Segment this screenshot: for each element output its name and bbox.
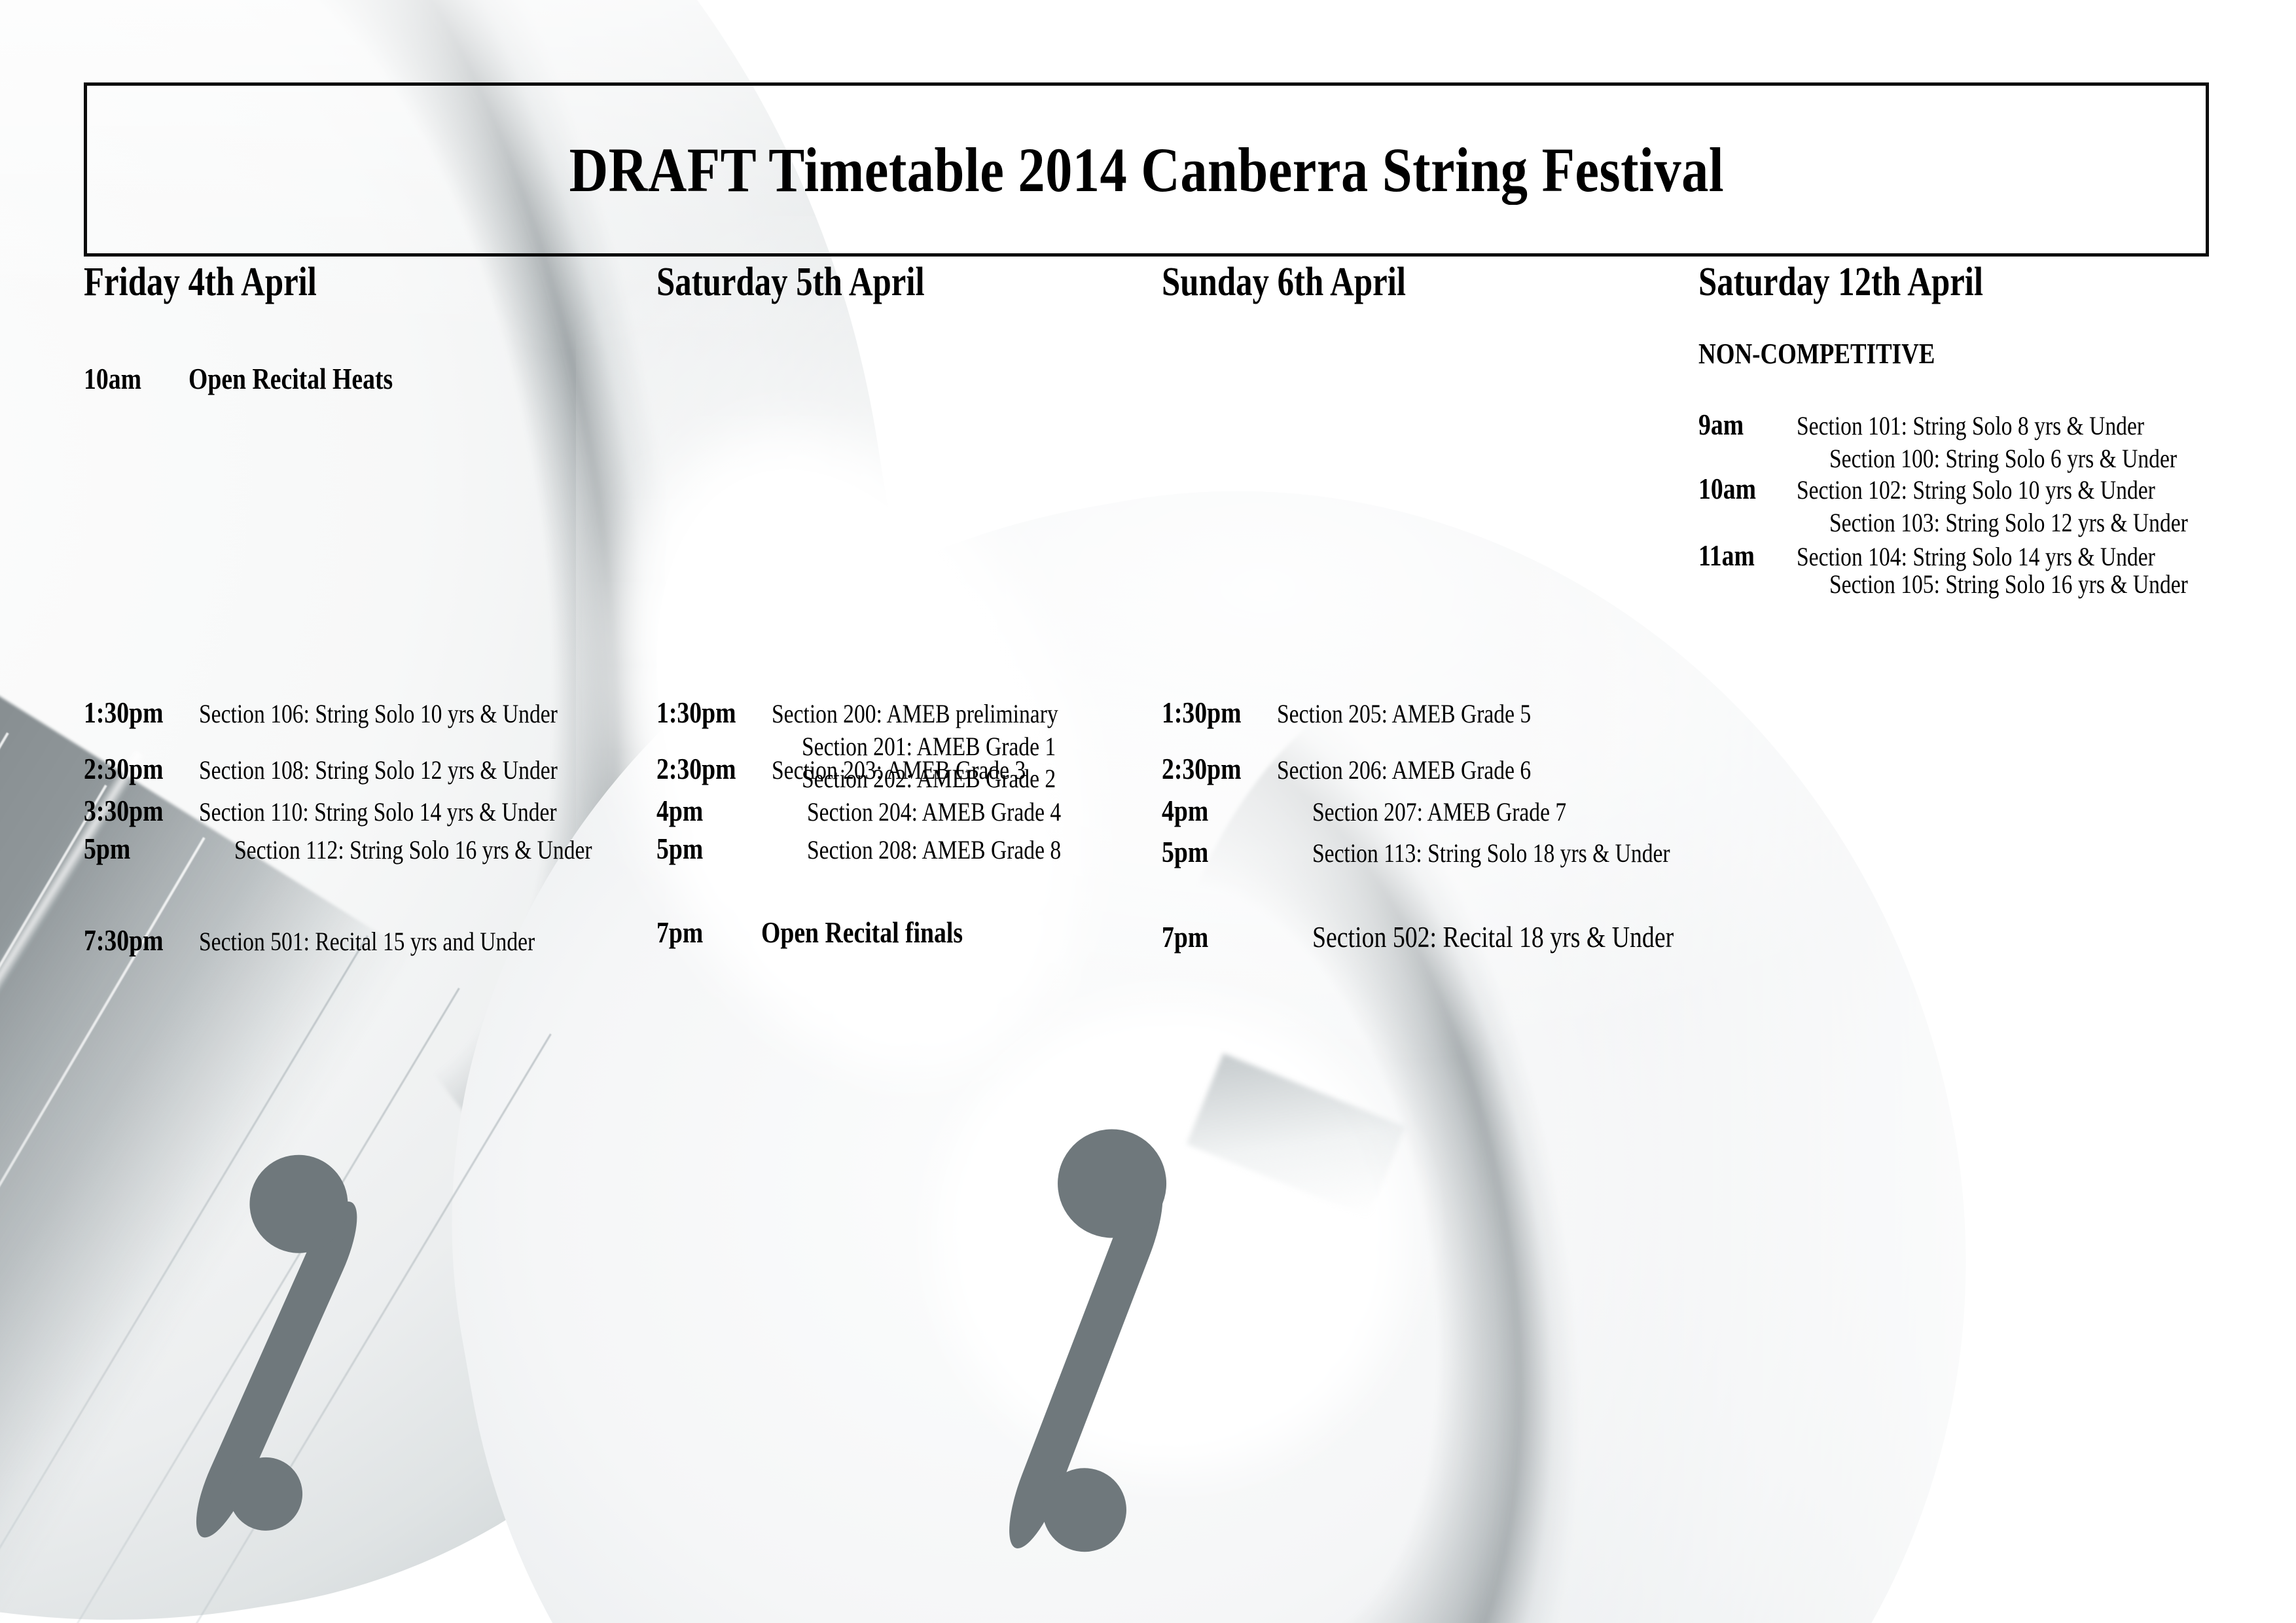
entry-description: Section 113: String Solo 18 yrs & Under (1312, 838, 1670, 868)
entry-time: 5pm (1162, 834, 1208, 869)
column-heading: Saturday 5th April (656, 262, 1086, 302)
timetable-entry: 7pmSection 502: Recital 18 yrs & Under (1162, 919, 1742, 954)
entry-time: 1:30pm (656, 695, 736, 730)
entry-time: 11am (1698, 538, 1755, 573)
timetable-entry: 4pmSection 204: AMEB Grade 4 (656, 793, 1109, 828)
timetable-entry: 2:30pmSection 108: String Solo 12 yrs & … (84, 751, 626, 786)
column-heading: Friday 4th April (84, 262, 535, 302)
entry-description: Section 203: AMEB Grade 3 (772, 755, 1026, 785)
entry-description: Section 208: AMEB Grade 8 (807, 834, 1061, 865)
timetable-entry: 7:30pmSection 501: Recital 15 yrs and Un… (84, 923, 599, 957)
title-box: DRAFT Timetable 2014 Canberra String Fes… (84, 82, 2209, 257)
entry-description: Section 101: String Solo 8 yrs & Under (1797, 410, 2144, 441)
column-heading: Sunday 6th April (1162, 262, 1591, 302)
day-column-sunday-6: Sunday 6th April 1:30pmSection 205: AMEB… (1162, 262, 1685, 302)
timetable-entry: 9amSection 101: String Solo 8 yrs & Unde… (1698, 407, 2243, 474)
day-column-saturday-12: Saturday 12th April NON-COMPETITIVE 9amS… (1698, 262, 2261, 302)
entry-description: Section 112: String Solo 16 yrs & Under (234, 834, 592, 865)
timetable-entry: 11amSection 104: String Solo 14 yrs & Un… (1698, 538, 2256, 599)
entry-time: 4pm (656, 793, 703, 828)
timetable-entry: 7pmOpen Recital finals (656, 915, 1007, 950)
timetable-entry: 1:30pmSection 205: AMEB Grade 5 (1162, 695, 1579, 730)
entry-description-line: Section 105: String Solo 16 yrs & Under (1829, 569, 2188, 599)
timetable-entry: 4pmSection 207: AMEB Grade 7 (1162, 793, 1615, 828)
entry-description-line: Section 103: String Solo 12 yrs & Under (1829, 507, 2188, 538)
timetable-entry: 10amOpen Recital Heats (84, 361, 438, 396)
entry-time: 10am (1698, 471, 1756, 506)
entry-description: Section 205: AMEB Grade 5 (1277, 698, 1531, 729)
entry-time: 4pm (1162, 793, 1208, 828)
entry-description: Section 110: String Solo 14 yrs & Under (199, 796, 557, 827)
day-column-saturday-5: Saturday 5th April 1:30pmSection 200: AM… (656, 262, 1180, 302)
entry-description: Section 204: AMEB Grade 4 (807, 796, 1061, 827)
entry-description: Section 502: Recital 18 yrs & Under (1312, 920, 1674, 954)
entry-time: 7pm (656, 915, 703, 950)
entry-description: Section 104: String Solo 14 yrs & Under (1797, 541, 2155, 572)
entry-description: Section 106: String Solo 10 yrs & Under (199, 698, 558, 729)
entry-time: 1:30pm (1162, 695, 1242, 730)
entry-description-line: Section 100: String Solo 6 yrs & Under (1829, 443, 2177, 474)
entry-time: 7:30pm (84, 923, 164, 957)
timetable-entry: 5pmSection 208: AMEB Grade 8 (656, 831, 1109, 866)
timetable-entry: 2:30pmSection 203: AMEB Grade 3 (656, 751, 1074, 786)
timetable-entry: 3:30pmSection 110: String Solo 14 yrs & … (84, 793, 625, 828)
entry-description: Section 102: String Solo 10 yrs & Under (1797, 474, 2155, 505)
entry-description: Open Recital Heats (188, 361, 393, 396)
entry-time: 2:30pm (656, 751, 736, 786)
entry-time: 5pm (656, 831, 703, 866)
entry-description: Section 108: String Solo 12 yrs & Under (199, 755, 558, 785)
entry-time: 9am (1698, 407, 1744, 442)
entry-time: 2:30pm (1162, 751, 1242, 786)
entry-description: Open Recital finals (761, 915, 963, 950)
timetable-entry: 1:30pmSection 106: String Solo 10 yrs & … (84, 695, 626, 730)
column-heading: Saturday 12th April (1698, 262, 2160, 302)
entry-time: 3:30pm (84, 793, 164, 828)
column-subheading: NON-COMPETITIVE (1698, 337, 1935, 370)
timetable-entry: 5pmSection 112: String Solo 16 yrs & Und… (84, 831, 660, 866)
entry-time: 1:30pm (84, 695, 164, 730)
entry-time: 10am (84, 361, 141, 396)
day-column-friday: Friday 4th April 10amOpen Recital Heats … (84, 262, 634, 302)
entry-time: 7pm (1162, 919, 1208, 954)
timetable-entry: 2:30pmSection 206: AMEB Grade 6 (1162, 751, 1579, 786)
entry-description: Section 206: AMEB Grade 6 (1277, 755, 1531, 785)
entry-time: 5pm (84, 831, 130, 866)
entry-time: 2:30pm (84, 751, 164, 786)
timetable-entry: 5pmSection 113: String Solo 18 yrs & Und… (1162, 834, 1738, 869)
entry-description: Section 501: Recital 15 yrs and Under (199, 926, 535, 957)
entry-description: Section 200: AMEB preliminary (772, 698, 1058, 729)
timetable-entry: 10amSection 102: String Solo 10 yrs & Un… (1698, 471, 2256, 538)
page-title: DRAFT Timetable 2014 Canberra String Fes… (569, 134, 1724, 206)
entry-description: Section 207: AMEB Grade 7 (1312, 796, 1566, 827)
